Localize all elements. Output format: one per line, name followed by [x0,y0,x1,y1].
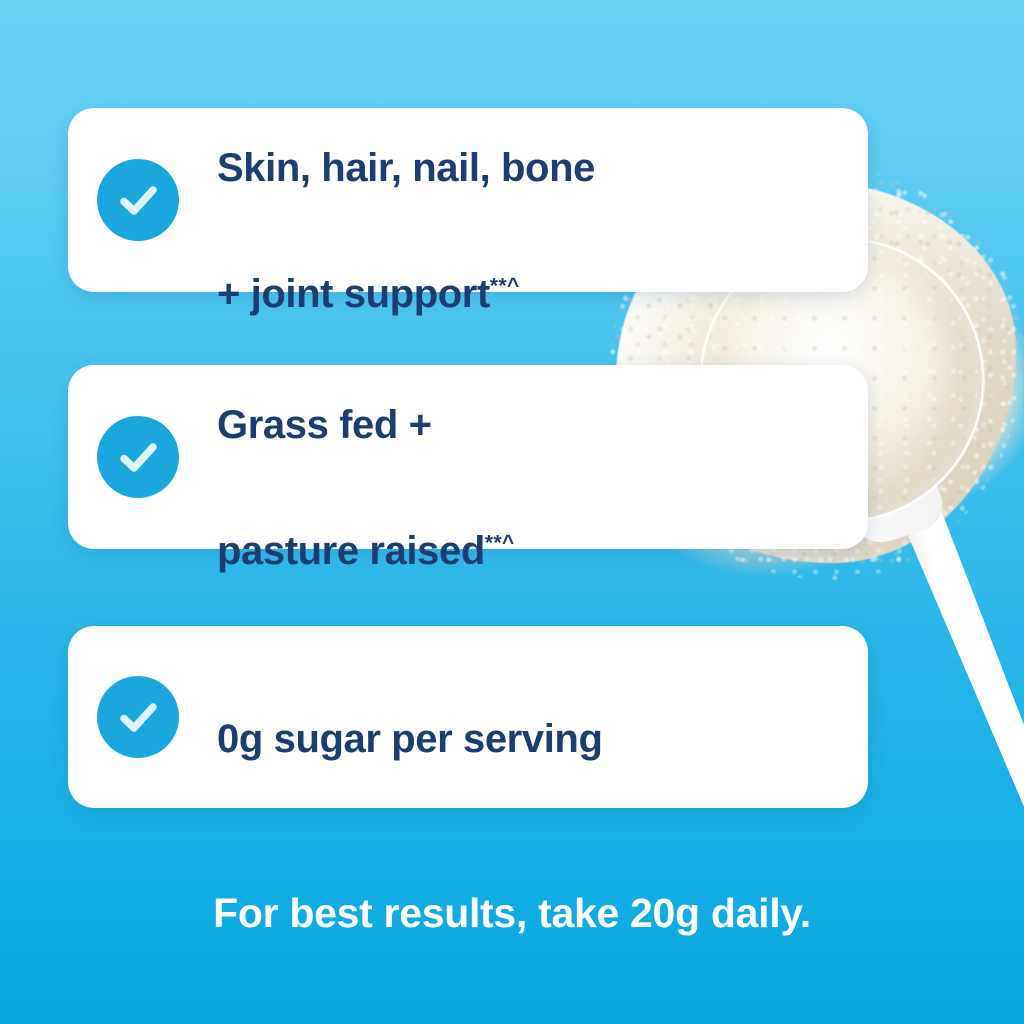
benefit-line-2: pasture raised [217,529,485,573]
check-circle-icon [97,676,179,758]
benefit-card[interactable]: 0g sugar per serving [68,626,868,808]
benefit-text: 0g sugar per serving [217,673,602,761]
benefit-superscript: **^ [485,532,515,555]
check-circle-icon [97,416,179,498]
dosage-note: For best results, take 20g daily. [0,890,1024,937]
benefit-line-1: Skin, hair, nail, bone [217,146,595,190]
benefit-line-2: + joint support [217,272,490,316]
benefit-text: Skin, hair, nail, bone + joint support**… [217,74,595,327]
benefit-superscript: **^ [490,275,520,298]
benefit-card-list: Skin, hair, nail, bone + joint support**… [68,108,868,808]
benefit-card[interactable]: Skin, hair, nail, bone + joint support**… [68,108,868,292]
benefit-line-1: Grass fed + [217,403,432,447]
benefit-card[interactable]: Grass fed + pasture raised**^ [68,365,868,549]
product-benefits-graphic: Skin, hair, nail, bone + joint support**… [0,0,1024,1024]
check-circle-icon [97,159,179,241]
benefit-text: Grass fed + pasture raised**^ [217,331,515,584]
benefit-line-1: 0g sugar per serving [217,717,602,761]
